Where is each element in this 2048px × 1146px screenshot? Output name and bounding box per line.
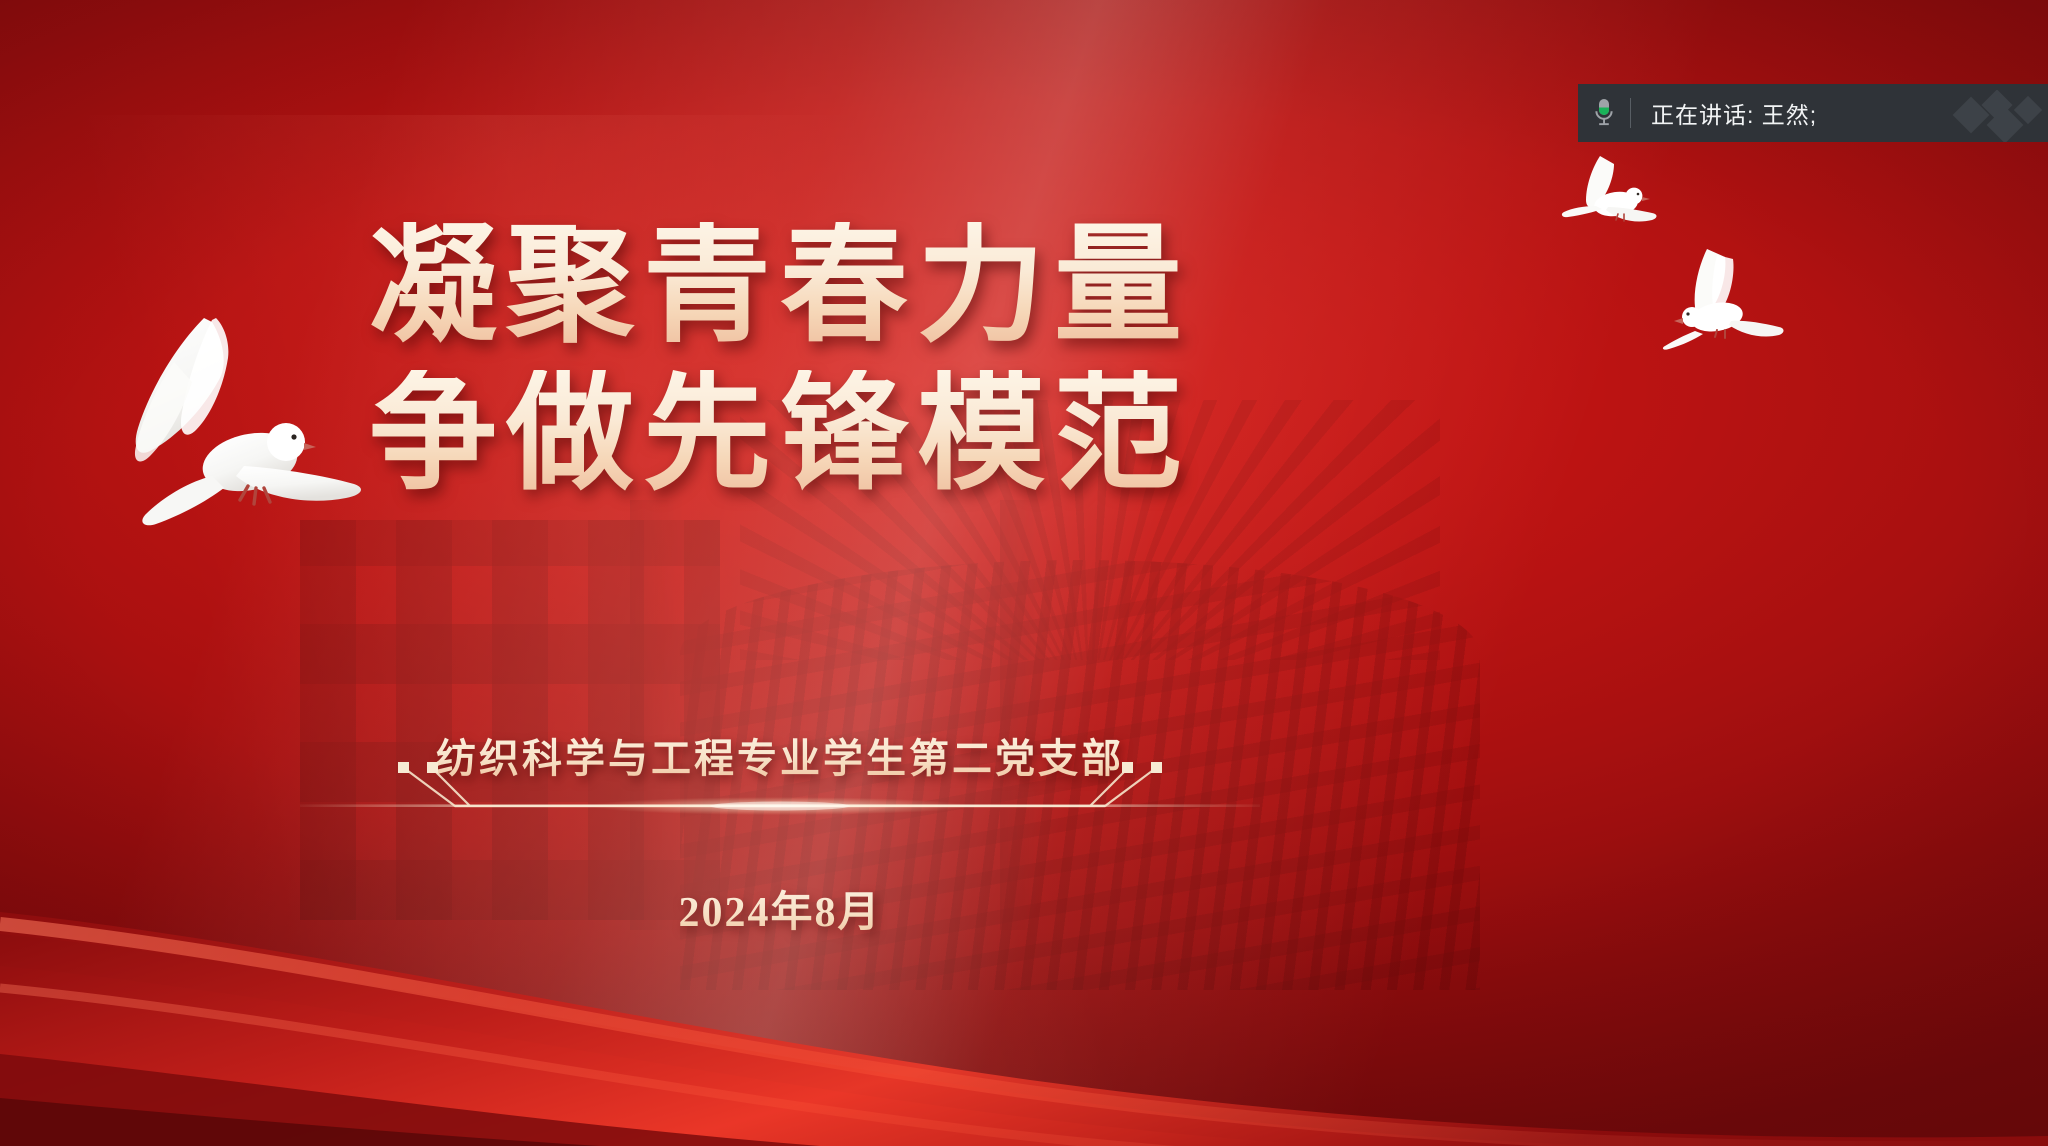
active-speaker-bar[interactable]: 正在讲话: 王然; bbox=[1578, 84, 2048, 142]
presentation-slide: 凝聚青春力量 争做先锋模范 纺织科学与工程专业学生第二党支部 bbox=[0, 0, 2048, 1146]
speaker-divider bbox=[1630, 98, 1631, 128]
diamond-watermark bbox=[1952, 90, 2042, 142]
microphone-icon[interactable] bbox=[1578, 97, 1630, 129]
background-vignette bbox=[0, 0, 2048, 1146]
speaker-label: 正在讲话: 王然; bbox=[1651, 96, 1817, 130]
